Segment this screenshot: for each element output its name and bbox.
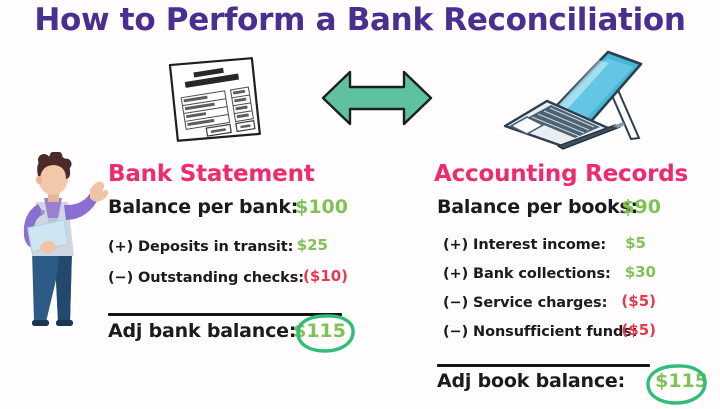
bank-statement-total-rule [108, 313, 342, 316]
ledger-row-label: (−) Service charges: [443, 295, 607, 311]
ledger-row-label: (+) Bank collections: [443, 266, 611, 282]
ledger-total-amount: $115 [293, 320, 346, 342]
arrow-svg [320, 66, 434, 130]
ledger-row-amount: ($5) [621, 292, 656, 310]
accounting-records-total-rule [437, 364, 650, 367]
ledger-row-amount: $5 [625, 234, 646, 252]
ledger-row-adjustment: (−) Service charges: ($5) [437, 292, 652, 320]
laptop-illustration [487, 46, 657, 156]
document-svg [158, 48, 278, 152]
ledger-row-amount: ($5) [621, 321, 656, 339]
ledger-row-amount: ($10) [303, 267, 348, 285]
ledger-row-label: (+) Deposits in transit: [108, 239, 293, 255]
accounting-records-ledger: Balance per books: $90 (+) Interest inco… [437, 196, 652, 349]
ledger-row-label: (−) Outstanding checks: [108, 270, 304, 286]
ledger-row-label: (+) Interest income: [443, 237, 606, 253]
person-svg [6, 152, 108, 330]
ledger-row-label: (−) Nonsufficient funds: [443, 324, 637, 340]
ledger-row-amount: $30 [625, 263, 656, 281]
ledger-row-amount: $100 [295, 196, 348, 218]
ledger-row-opening: Balance per books: $90 [437, 196, 652, 230]
ledger-row-adjustment: (+) Bank collections: $30 [437, 263, 652, 291]
accounting-records-total: Adj book balance: $115 [437, 370, 652, 404]
bank-statement-document-illustration [158, 48, 278, 156]
ledger-row-total: Adj bank balance: $115 [108, 320, 344, 354]
bank-statement-heading: Bank Statement [108, 161, 315, 187]
ledger-row-amount: $25 [297, 236, 328, 254]
ledger-row-adjustment: (−) Outstanding checks: ($10) [108, 267, 344, 295]
ledger-row-label: Balance per books: [437, 196, 638, 218]
ledger-total-label: Adj bank balance: [108, 320, 296, 342]
ledger-row-adjustment: (+) Interest income: $5 [437, 234, 652, 262]
infographic-canvas: How to Perform a Bank Reconciliation [0, 0, 720, 409]
accounting-records-heading: Accounting Records [434, 161, 688, 187]
laptop-svg [487, 46, 657, 152]
bank-statement-total: Adj bank balance: $115 [108, 320, 344, 354]
ledger-total-amount: $115 [655, 370, 708, 392]
bank-statement-ledger: Balance per bank: $100 (+) Deposits in t… [108, 196, 344, 295]
ledger-row-label: Balance per bank: [108, 196, 298, 218]
double-headed-arrow-icon [320, 66, 434, 134]
ledger-row-total: Adj book balance: $115 [437, 370, 652, 404]
ledger-row-adjustment: (−) Nonsufficient funds: ($5) [437, 321, 652, 349]
ledger-total-label: Adj book balance: [437, 370, 625, 392]
page-title: How to Perform a Bank Reconciliation [0, 2, 720, 38]
presenter-person-illustration [6, 152, 108, 334]
ledger-row-adjustment: (+) Deposits in transit: $25 [108, 236, 344, 264]
ledger-row-amount: $90 [621, 196, 661, 218]
ledger-row-opening: Balance per bank: $100 [108, 196, 344, 230]
